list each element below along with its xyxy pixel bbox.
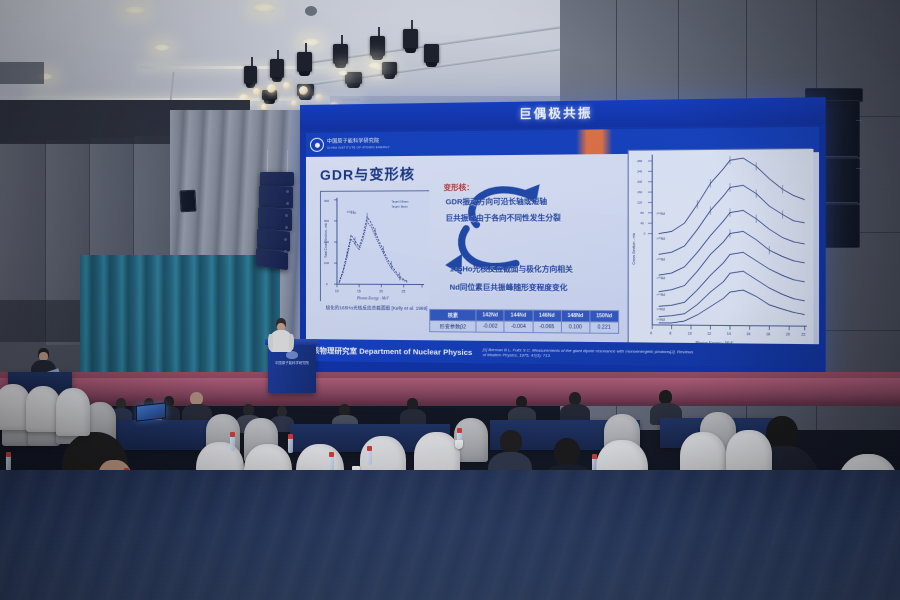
table-header-cell: 148Nd xyxy=(561,310,590,322)
water-bottle[interactable] xyxy=(329,456,334,471)
table-header-cell: 144Nd xyxy=(504,310,532,321)
deformation-parameter-table: 核素 142Nd 144Nd 146Nd 148Nd 150Nd 形变参数β2 … xyxy=(429,309,619,334)
stage-light xyxy=(382,62,397,75)
svg-text:12: 12 xyxy=(707,332,711,336)
callout-label: 变形核： xyxy=(444,182,474,193)
table-cell: -0.002 xyxy=(476,321,504,332)
svg-text:200: 200 xyxy=(637,180,642,184)
podium-crest-icon xyxy=(286,351,298,359)
chart-right-nd-isotopes: 6810 121416 182022 280240200 16012080 40… xyxy=(628,148,813,348)
svg-text:22: 22 xyxy=(801,332,805,336)
stage-light xyxy=(403,29,418,49)
svg-text:280: 280 xyxy=(637,159,642,163)
water-bottle[interactable] xyxy=(6,456,11,471)
svg-text:¹⁴²Nd: ¹⁴²Nd xyxy=(657,318,665,322)
podium-logo-text: 中国原子能科学研究院 xyxy=(274,361,310,365)
table-row-label: 形变参数β2 xyxy=(430,321,476,333)
svg-text:Total Cross Section - mb: Total Cross Section - mb xyxy=(324,223,328,258)
svg-text:300: 300 xyxy=(324,219,329,223)
led-presentation-screen: 巨偶极共振 中国原子能科学研究院 CHINA INSTITUTE OF ATOM… xyxy=(300,97,826,393)
slide-body: 中国原子能科学研究院 CHINA INSTITUTE OF ATOMIC ENE… xyxy=(306,127,819,368)
stage-light xyxy=(333,44,348,64)
svg-text:¹⁴⁶Nd: ¹⁴⁶Nd xyxy=(657,257,666,261)
svg-text:Target II Beam: Target II Beam xyxy=(391,199,408,203)
svg-text:¹⁵⁰Nd: ¹⁵⁰Nd xyxy=(657,212,666,216)
speaker-wall-small xyxy=(179,190,196,213)
presenter xyxy=(268,318,294,350)
svg-text:¹⁴⁴Nd: ¹⁴⁴Nd xyxy=(657,293,666,297)
slide-heading: GDR与变形核 xyxy=(320,164,415,185)
svg-text:100: 100 xyxy=(324,261,329,265)
stage-light xyxy=(370,36,385,56)
svg-text:14: 14 xyxy=(727,332,731,336)
svg-text:80: 80 xyxy=(640,211,644,215)
carpet-floor xyxy=(0,470,900,600)
stage-light xyxy=(297,52,312,72)
svg-text:40: 40 xyxy=(640,221,644,225)
water-bottle[interactable] xyxy=(367,450,372,465)
ceiling-downlight xyxy=(253,3,275,12)
stage-skirt-lighting xyxy=(0,378,900,402)
paper-cup[interactable] xyxy=(455,440,463,449)
ceiling-downlight xyxy=(154,44,170,51)
table-header-cell: 150Nd xyxy=(590,310,619,322)
stage-curtain xyxy=(80,255,280,380)
chair xyxy=(26,386,60,432)
chart-left-svg: 10 15 20 25 0 100 200 300 400 Total Cros… xyxy=(321,191,430,303)
svg-text:400: 400 xyxy=(324,199,329,203)
svg-text:20: 20 xyxy=(786,332,790,336)
svg-text:8: 8 xyxy=(669,331,671,335)
table-header-cell: 核素 xyxy=(430,309,476,321)
water-bottle[interactable] xyxy=(230,436,235,451)
svg-text:25: 25 xyxy=(402,289,406,293)
svg-text:Target I Beam: Target I Beam xyxy=(391,205,407,209)
institute-logo: 中国原子能科学研究院 CHINA INSTITUTE OF ATOMIC ENE… xyxy=(310,135,407,154)
svg-text:10: 10 xyxy=(335,289,339,293)
audience-member xyxy=(560,392,590,422)
chart-left-caption: 极化的165Ho光核反应总截面图 [Kelly et al. 1969] xyxy=(316,305,437,312)
chart-right-svg: 6810 121416 182022 280240200 16012080 40… xyxy=(629,149,814,349)
table-header-cell: 146Nd xyxy=(533,310,561,322)
svg-text:160: 160 xyxy=(637,190,642,194)
table-header-cell: 142Nd xyxy=(476,310,504,321)
table-cell: 0.100 xyxy=(561,322,590,334)
svg-text:Cross Section - mb: Cross Section - mb xyxy=(632,233,636,265)
bullet-1: GDR振动方向可沿长轴或短轴 xyxy=(446,196,547,208)
ceiling-downlight xyxy=(124,6,146,14)
bullet-2: 巨共振峰由于各向不同性发生分裂 xyxy=(446,212,561,224)
table-cell: 0.221 xyxy=(590,322,619,334)
svg-text:¹⁴⁵Nd: ¹⁴⁵Nd xyxy=(657,276,666,280)
svg-text:¹⁴⁸Nd: ¹⁴⁸Nd xyxy=(657,237,666,241)
laptop[interactable] xyxy=(136,404,170,426)
stage-light xyxy=(270,59,284,78)
svg-text:240: 240 xyxy=(637,169,642,173)
logo-name-en: CHINA INSTITUTE OF ATOMIC ENERGY xyxy=(327,145,390,150)
svg-text:16: 16 xyxy=(746,332,750,336)
table-row: 形变参数β2 -0.002 -0.004 -0.065 0.100 0.221 xyxy=(430,321,619,334)
svg-text:20: 20 xyxy=(379,289,383,293)
slide-footer: 核物理研究室 Department of Nuclear Physics [1]… xyxy=(306,339,819,367)
water-bottle[interactable] xyxy=(288,438,293,453)
table-cell: -0.004 xyxy=(504,321,532,332)
footer-department: 核物理研究室 Department of Nuclear Physics xyxy=(312,345,472,358)
svg-text:6: 6 xyxy=(650,331,652,335)
svg-text:Photon Energy - MeV: Photon Energy - MeV xyxy=(356,296,389,300)
chart-left-165ho: 10 15 20 25 0 100 200 300 400 Total Cros… xyxy=(320,190,429,302)
note-1: 165Ho光核反应截面与极化方向相关 xyxy=(450,263,573,275)
table-cell: -0.065 xyxy=(533,321,561,333)
audience-member xyxy=(400,398,426,426)
stage-light xyxy=(424,44,439,63)
svg-text:¹⁴³Nd: ¹⁴³Nd xyxy=(657,307,665,311)
atom-icon xyxy=(310,138,324,152)
svg-text:10: 10 xyxy=(688,331,692,335)
note-2: Nd同位素巨共振峰随形变程度变化 xyxy=(450,282,568,294)
svg-text:18: 18 xyxy=(766,332,770,336)
svg-text:15: 15 xyxy=(357,289,361,293)
conference-photo: 巨偶极共振 中国原子能科学研究院 CHINA INSTITUTE OF ATOM… xyxy=(0,0,900,600)
svg-text:120: 120 xyxy=(637,200,642,204)
svg-text:¹⁶⁵Ho: ¹⁶⁵Ho xyxy=(347,210,356,215)
chair xyxy=(56,388,90,436)
